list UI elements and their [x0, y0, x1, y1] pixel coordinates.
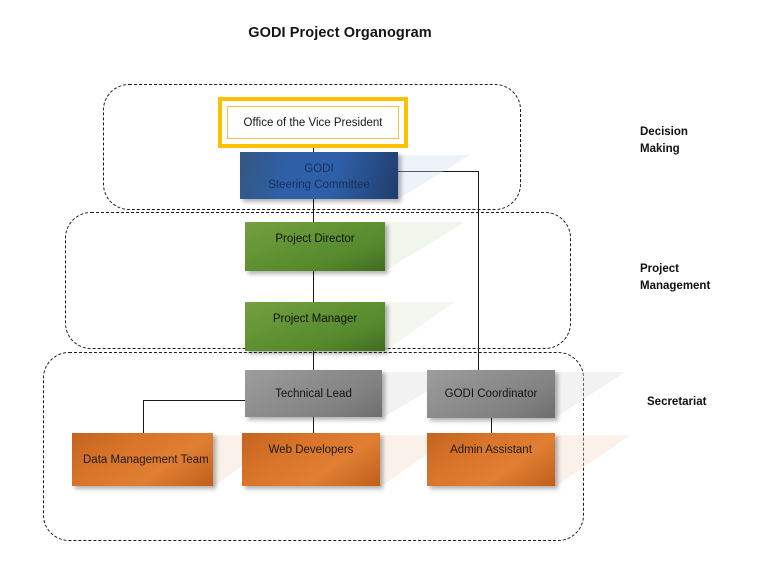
- page-title: GODI Project Organogram: [0, 25, 680, 41]
- connector-manager-to-techlead: [313, 350, 314, 371]
- node-project-director[interactable]: Project Director: [245, 222, 385, 271]
- group-label-project-management: Project Management: [640, 261, 710, 295]
- connector-steering-to-coordinator-horizontal: [398, 171, 479, 172]
- node-label-coordinator: GODI Coordinator: [427, 386, 555, 402]
- node-label-techlead: Technical Lead: [245, 386, 382, 402]
- node-label-datamgmt: Data Management Team: [83, 452, 213, 468]
- connector-techlead-to-datamgmt-vertical: [143, 400, 144, 434]
- node-office-of-the-vice-president[interactable]: Office of the Vice President: [218, 97, 408, 148]
- node-label-webdev: Web Developers: [242, 442, 380, 458]
- group-label-secretariat: Secretariat: [647, 394, 706, 411]
- connector-steering-to-director: [313, 198, 314, 223]
- node-label-manager: Project Manager: [245, 311, 385, 327]
- connector-coordinator-to-adminasst: [491, 417, 492, 434]
- node-web-developers[interactable]: Web Developers: [242, 433, 380, 486]
- connector-techlead-to-webdev: [313, 416, 314, 434]
- group-label-decision-making: Decision Making: [640, 124, 688, 158]
- node-label-vp: Office of the Vice President: [222, 115, 404, 131]
- node-data-management-team[interactable]: Data Management Team: [72, 433, 213, 486]
- organogram-canvas: GODI Project Organogram Decision Making …: [0, 0, 776, 564]
- connector-director-to-manager: [313, 270, 314, 303]
- node-label-adminasst: Admin Assistant: [427, 442, 555, 458]
- node-project-manager[interactable]: Project Manager: [245, 302, 385, 351]
- node-label-steering: GODI Steering Committee: [240, 161, 398, 193]
- connector-techlead-to-datamgmt-horizontal: [143, 400, 246, 401]
- node-godi-steering-committee[interactable]: GODI Steering Committee: [240, 152, 398, 199]
- connector-steering-to-coordinator-vertical: [478, 171, 479, 371]
- node-label-director: Project Director: [245, 231, 385, 247]
- node-technical-lead[interactable]: Technical Lead: [245, 370, 382, 417]
- node-admin-assistant[interactable]: Admin Assistant: [427, 433, 555, 486]
- node-godi-coordinator[interactable]: GODI Coordinator: [427, 370, 555, 418]
